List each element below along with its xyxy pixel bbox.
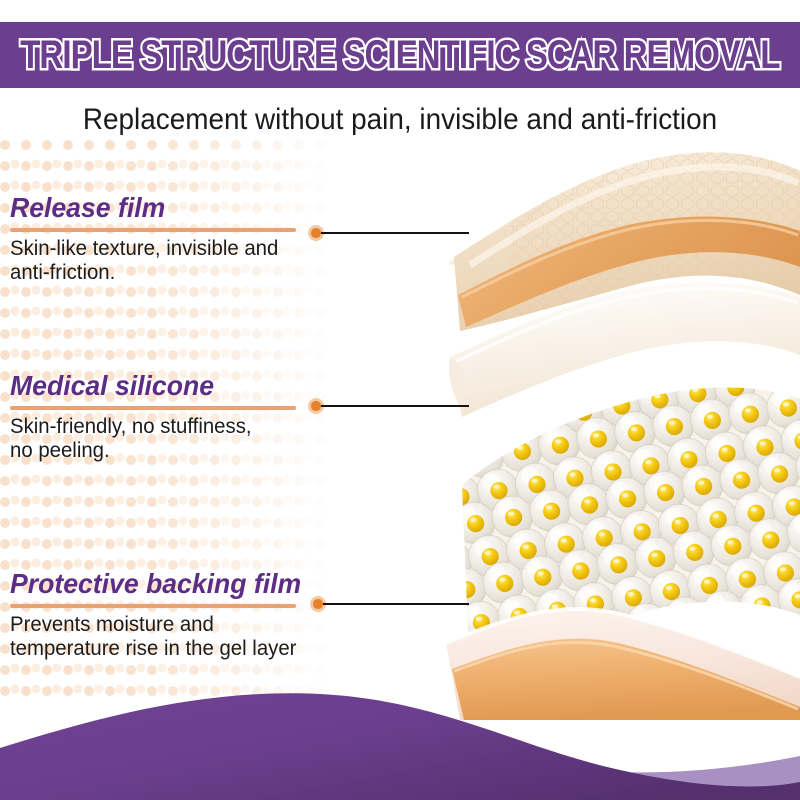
product-cross-section-image bbox=[440, 145, 800, 720]
gel-bead-core bbox=[566, 470, 583, 487]
gel-bead bbox=[440, 443, 466, 484]
page-title: TRIPLE STRUCTURE SCIENTIFIC SCAR REMOVAL bbox=[20, 33, 779, 77]
subtitle: Replacement without pain, invisible and … bbox=[28, 100, 772, 140]
gel-bead-core bbox=[663, 583, 680, 600]
connector-medical-silicone bbox=[308, 398, 463, 414]
gel-bead-core bbox=[520, 542, 537, 559]
gel-bead-core bbox=[482, 548, 499, 565]
feature-divider-rule bbox=[10, 406, 296, 410]
gel-bead-core bbox=[686, 544, 703, 561]
gel-bead bbox=[702, 591, 743, 632]
gel-bead-core bbox=[704, 412, 721, 429]
gel-bead-core bbox=[452, 488, 469, 505]
gel-bead-core bbox=[672, 517, 689, 534]
gel-bead-core bbox=[619, 490, 636, 507]
gel-bead-core bbox=[543, 503, 560, 520]
gel-bead-core bbox=[733, 472, 750, 489]
gel-bead-core bbox=[552, 437, 569, 454]
gel-bead-core bbox=[499, 416, 516, 433]
gel-bead-core bbox=[575, 404, 592, 421]
gel-bead-core bbox=[753, 597, 770, 614]
gel-bead-core bbox=[625, 589, 642, 606]
gel-bead-core bbox=[780, 399, 797, 416]
gel-bead-core bbox=[695, 478, 712, 495]
gel-bead-core bbox=[440, 455, 455, 472]
gel-bead-core bbox=[762, 531, 779, 548]
feature-divider-rule bbox=[10, 604, 296, 608]
feature-divider-rule bbox=[10, 228, 296, 232]
gel-bead-core bbox=[739, 571, 756, 588]
gel-bead-core bbox=[610, 556, 627, 573]
feature-description: Skin-like texture, invisible and anti-fr… bbox=[10, 237, 301, 285]
gel-bead-core bbox=[689, 385, 706, 402]
connector-leader-line bbox=[321, 405, 469, 407]
gel-bead-core bbox=[558, 536, 575, 553]
gel-bead-core bbox=[666, 418, 683, 435]
gel-bead bbox=[440, 509, 457, 550]
gel-bead-core bbox=[701, 577, 718, 594]
gel-bead bbox=[486, 403, 527, 444]
gel-bead-core bbox=[604, 463, 621, 480]
gel-bead bbox=[740, 585, 781, 626]
gel-bead-core bbox=[742, 406, 759, 423]
connector-leader-line bbox=[321, 232, 469, 234]
gel-bead bbox=[448, 410, 489, 451]
gel-bead-core bbox=[514, 443, 531, 460]
gel-bead-core bbox=[777, 564, 794, 581]
gel-bead-core bbox=[756, 439, 773, 456]
connector-protective-backing-film bbox=[310, 596, 463, 612]
gel-bead-core bbox=[748, 505, 765, 522]
gel-bead-core bbox=[651, 391, 668, 408]
gel-bead-core bbox=[642, 457, 659, 474]
gel-bead-core bbox=[677, 610, 694, 627]
feature-block-release-film: Release film Skin-like texture, invisibl… bbox=[10, 192, 310, 285]
gel-bead-core bbox=[496, 575, 513, 592]
gel-bead-core bbox=[648, 550, 665, 567]
gel-bead-core bbox=[590, 430, 607, 447]
gel-bead-core bbox=[572, 562, 589, 579]
feature-description: Skin-friendly, no stuffiness, no peeling… bbox=[10, 415, 301, 463]
gel-bead-core bbox=[596, 529, 613, 546]
gel-bead-core bbox=[537, 410, 554, 427]
gel-bead-core bbox=[440, 521, 446, 538]
gel-bead-core bbox=[581, 496, 598, 513]
feature-block-protective-backing-film: Protective backing film Prevents moistur… bbox=[10, 568, 310, 661]
gel-bead-core bbox=[490, 482, 507, 499]
gel-bead-core bbox=[771, 465, 788, 482]
gel-bead-core bbox=[718, 445, 735, 462]
gel-bead-core bbox=[724, 538, 741, 555]
gel-bead-core bbox=[657, 484, 674, 501]
header-banner: TRIPLE STRUCTURE SCIENTIFIC SCAR REMOVAL bbox=[0, 22, 800, 88]
gel-bead-core bbox=[467, 515, 484, 532]
gel-bead-core bbox=[634, 523, 651, 540]
connector-leader-line bbox=[323, 603, 469, 605]
feature-title: Protective backing film bbox=[10, 568, 295, 600]
gel-bead-core bbox=[680, 451, 697, 468]
gel-bead-core bbox=[710, 511, 727, 528]
gel-bead-core bbox=[461, 422, 478, 439]
gel-bead-core bbox=[715, 604, 732, 621]
gel-bead-core bbox=[505, 509, 522, 526]
wave-back bbox=[0, 720, 800, 800]
gel-bead-core bbox=[528, 476, 545, 493]
gel-bead-core bbox=[476, 449, 493, 466]
gel-bead-core bbox=[440, 620, 452, 637]
feature-description: Prevents moisture and temperature rise i… bbox=[10, 613, 301, 661]
feature-block-medical-silicone: Medical silicone Skin-friendly, no stuff… bbox=[10, 370, 310, 463]
gel-bead-core bbox=[727, 379, 744, 396]
gel-bead-core bbox=[444, 554, 461, 571]
layer-protective-backing-film bbox=[446, 609, 800, 720]
feature-title: Release film bbox=[10, 192, 295, 224]
connector-release-film bbox=[308, 225, 463, 241]
feature-title: Medical silicone bbox=[10, 370, 295, 402]
gel-bead-core bbox=[534, 569, 551, 586]
gel-bead-core bbox=[613, 397, 630, 414]
gel-bead-core bbox=[628, 424, 645, 441]
